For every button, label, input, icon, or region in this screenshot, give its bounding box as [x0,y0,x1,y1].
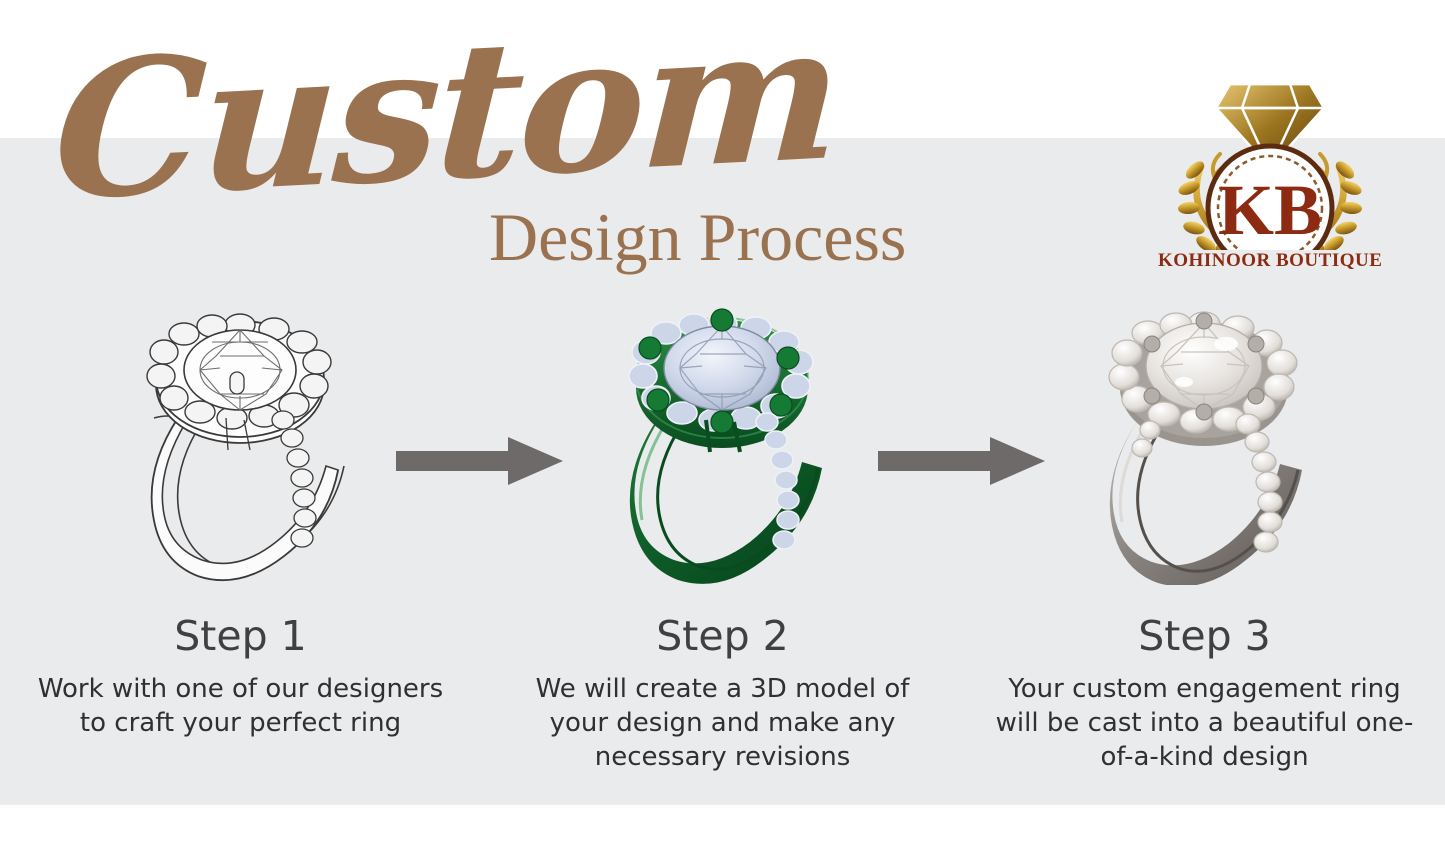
step-2: Step 2 We will create a 3D model of your… [482,300,963,805]
arrow-step1-to-step2 [396,437,563,485]
ring-3d-cad-model-icon [598,300,848,585]
ring-finished-photo-icon [1080,300,1330,585]
footer-background [0,805,1445,849]
arrow-right-icon [878,437,1045,485]
steps-row: Step 1 Work with one of our designers to… [0,300,1445,805]
step-1: Step 1 Work with one of our designers to… [0,300,481,805]
step-3: Step 3 Your custom engagement ring will … [964,300,1445,805]
ring-sketch-line-art-icon [116,300,366,585]
page-title-subtitle: Design Process [489,198,989,276]
step-1-heading: Step 1 [0,612,481,660]
step-2-description: We will create a 3D model of your design… [506,672,939,774]
logo-mark-graphic: KB [1158,58,1382,250]
arrow-step2-to-step3 [878,437,1045,485]
arrow-right-icon [396,437,563,485]
step-3-heading: Step 3 [964,612,1445,660]
step-1-description: Work with one of our designers to craft … [24,672,457,740]
logo-monogram-text: KB [1218,170,1322,250]
custom-design-process-infographic: Custom Design Process [0,0,1445,849]
step-3-description: Your custom engagement ring will be cast… [988,672,1421,774]
step-2-heading: Step 2 [482,612,963,660]
brand-logo: KB KOHINOOR BOUTIQUE [1158,58,1382,282]
logo-wordmark: KOHINOOR BOUTIQUE [1158,250,1382,272]
